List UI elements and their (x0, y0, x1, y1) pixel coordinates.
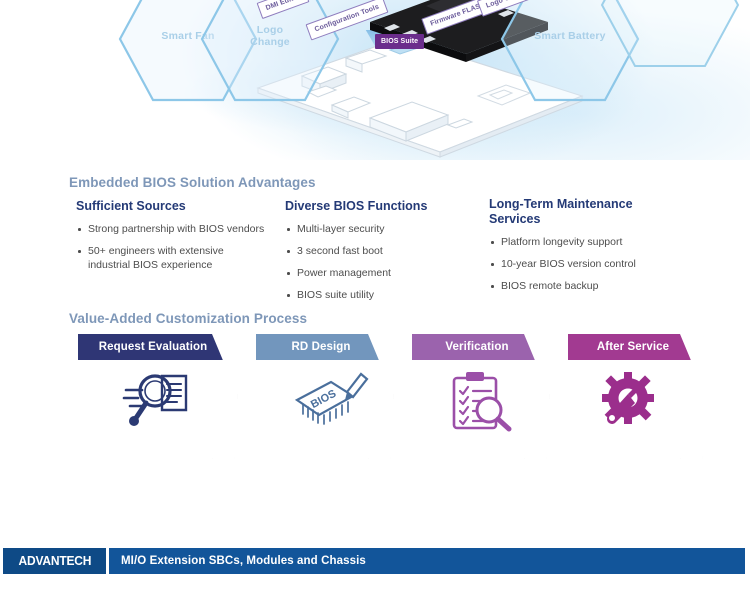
hero-banner: Smart Fan Logo Change Smart Battery DMI … (0, 0, 750, 160)
list-item: Platform longevity support (489, 235, 684, 249)
customization-process-flow: Request Evaluation (78, 334, 674, 459)
list-item: Strong partnership with BIOS vendors (76, 222, 266, 236)
process-step-verification[interactable]: Verification (390, 334, 550, 459)
process-step-label: Verification (445, 341, 508, 353)
column-list: Multi-layer security 3 second fast boot … (285, 222, 470, 302)
advantage-column-long-term-maintenance-services: Long-Term Maintenance Services Platform … (489, 197, 684, 301)
column-list: Strong partnership with BIOS vendors 50+… (76, 222, 266, 272)
advantage-column-sufficient-sources: Sufficient Sources Strong partnership wi… (76, 199, 266, 280)
process-step-label: After Service (597, 341, 669, 353)
list-item: BIOS remote backup (489, 279, 684, 293)
process-step-header: Verification (412, 334, 552, 360)
list-item: Power management (285, 266, 470, 280)
advantages-section-title: Embedded BIOS Solution Advantages (69, 175, 316, 190)
column-heading: Long-Term Maintenance Services (489, 197, 684, 227)
process-step-label: Request Evaluation (99, 341, 208, 353)
process-step-label: RD Design (291, 341, 350, 353)
process-section-title: Value-Added Customization Process (69, 311, 307, 326)
process-step-header: RD Design (256, 334, 396, 360)
list-item: 3 second fast boot (285, 244, 470, 258)
column-heading: Sufficient Sources (76, 199, 266, 214)
process-step-header: After Service (568, 334, 708, 360)
process-step-request-evaluation[interactable]: Request Evaluation (78, 334, 238, 459)
magnifier-document-icon (78, 370, 238, 432)
process-step-rd-design[interactable]: RD Design BIOS (234, 334, 394, 459)
tag-bios-suite: BIOS Suite (375, 34, 424, 49)
advantage-column-diverse-bios-functions: Diverse BIOS Functions Multi-layer secur… (285, 199, 470, 310)
footer-bar: ADVANTECH MI/O Extension SBCs, Modules a… (3, 548, 745, 574)
tag-label: BIOS Suite (381, 38, 418, 45)
column-heading: Diverse BIOS Functions (285, 199, 470, 214)
process-tail-chevron (702, 334, 736, 459)
clipboard-checklist-magnifier-icon (390, 370, 562, 432)
list-item: BIOS suite utility (285, 288, 470, 302)
list-item: Multi-layer security (285, 222, 470, 236)
column-list: Platform longevity support 10-year BIOS … (489, 235, 684, 293)
list-item: 50+ engineers with extensive industrial … (76, 244, 266, 272)
process-step-after-service[interactable]: After Service (546, 334, 706, 459)
list-item: 10-year BIOS version control (489, 257, 684, 271)
advantech-logo: ADVANTECH (18, 554, 91, 568)
advantech-logo-block[interactable]: ADVANTECH (3, 548, 106, 574)
hexagon-label-line2: Change (200, 36, 340, 48)
process-step-header: Request Evaluation (78, 334, 238, 360)
bios-chip-pencil-icon: BIOS (234, 370, 410, 432)
hexagon-decor-right (600, 0, 740, 70)
gear-wrench-icon (546, 370, 706, 432)
footer-title: MI/O Extension SBCs, Modules and Chassis (109, 548, 366, 574)
